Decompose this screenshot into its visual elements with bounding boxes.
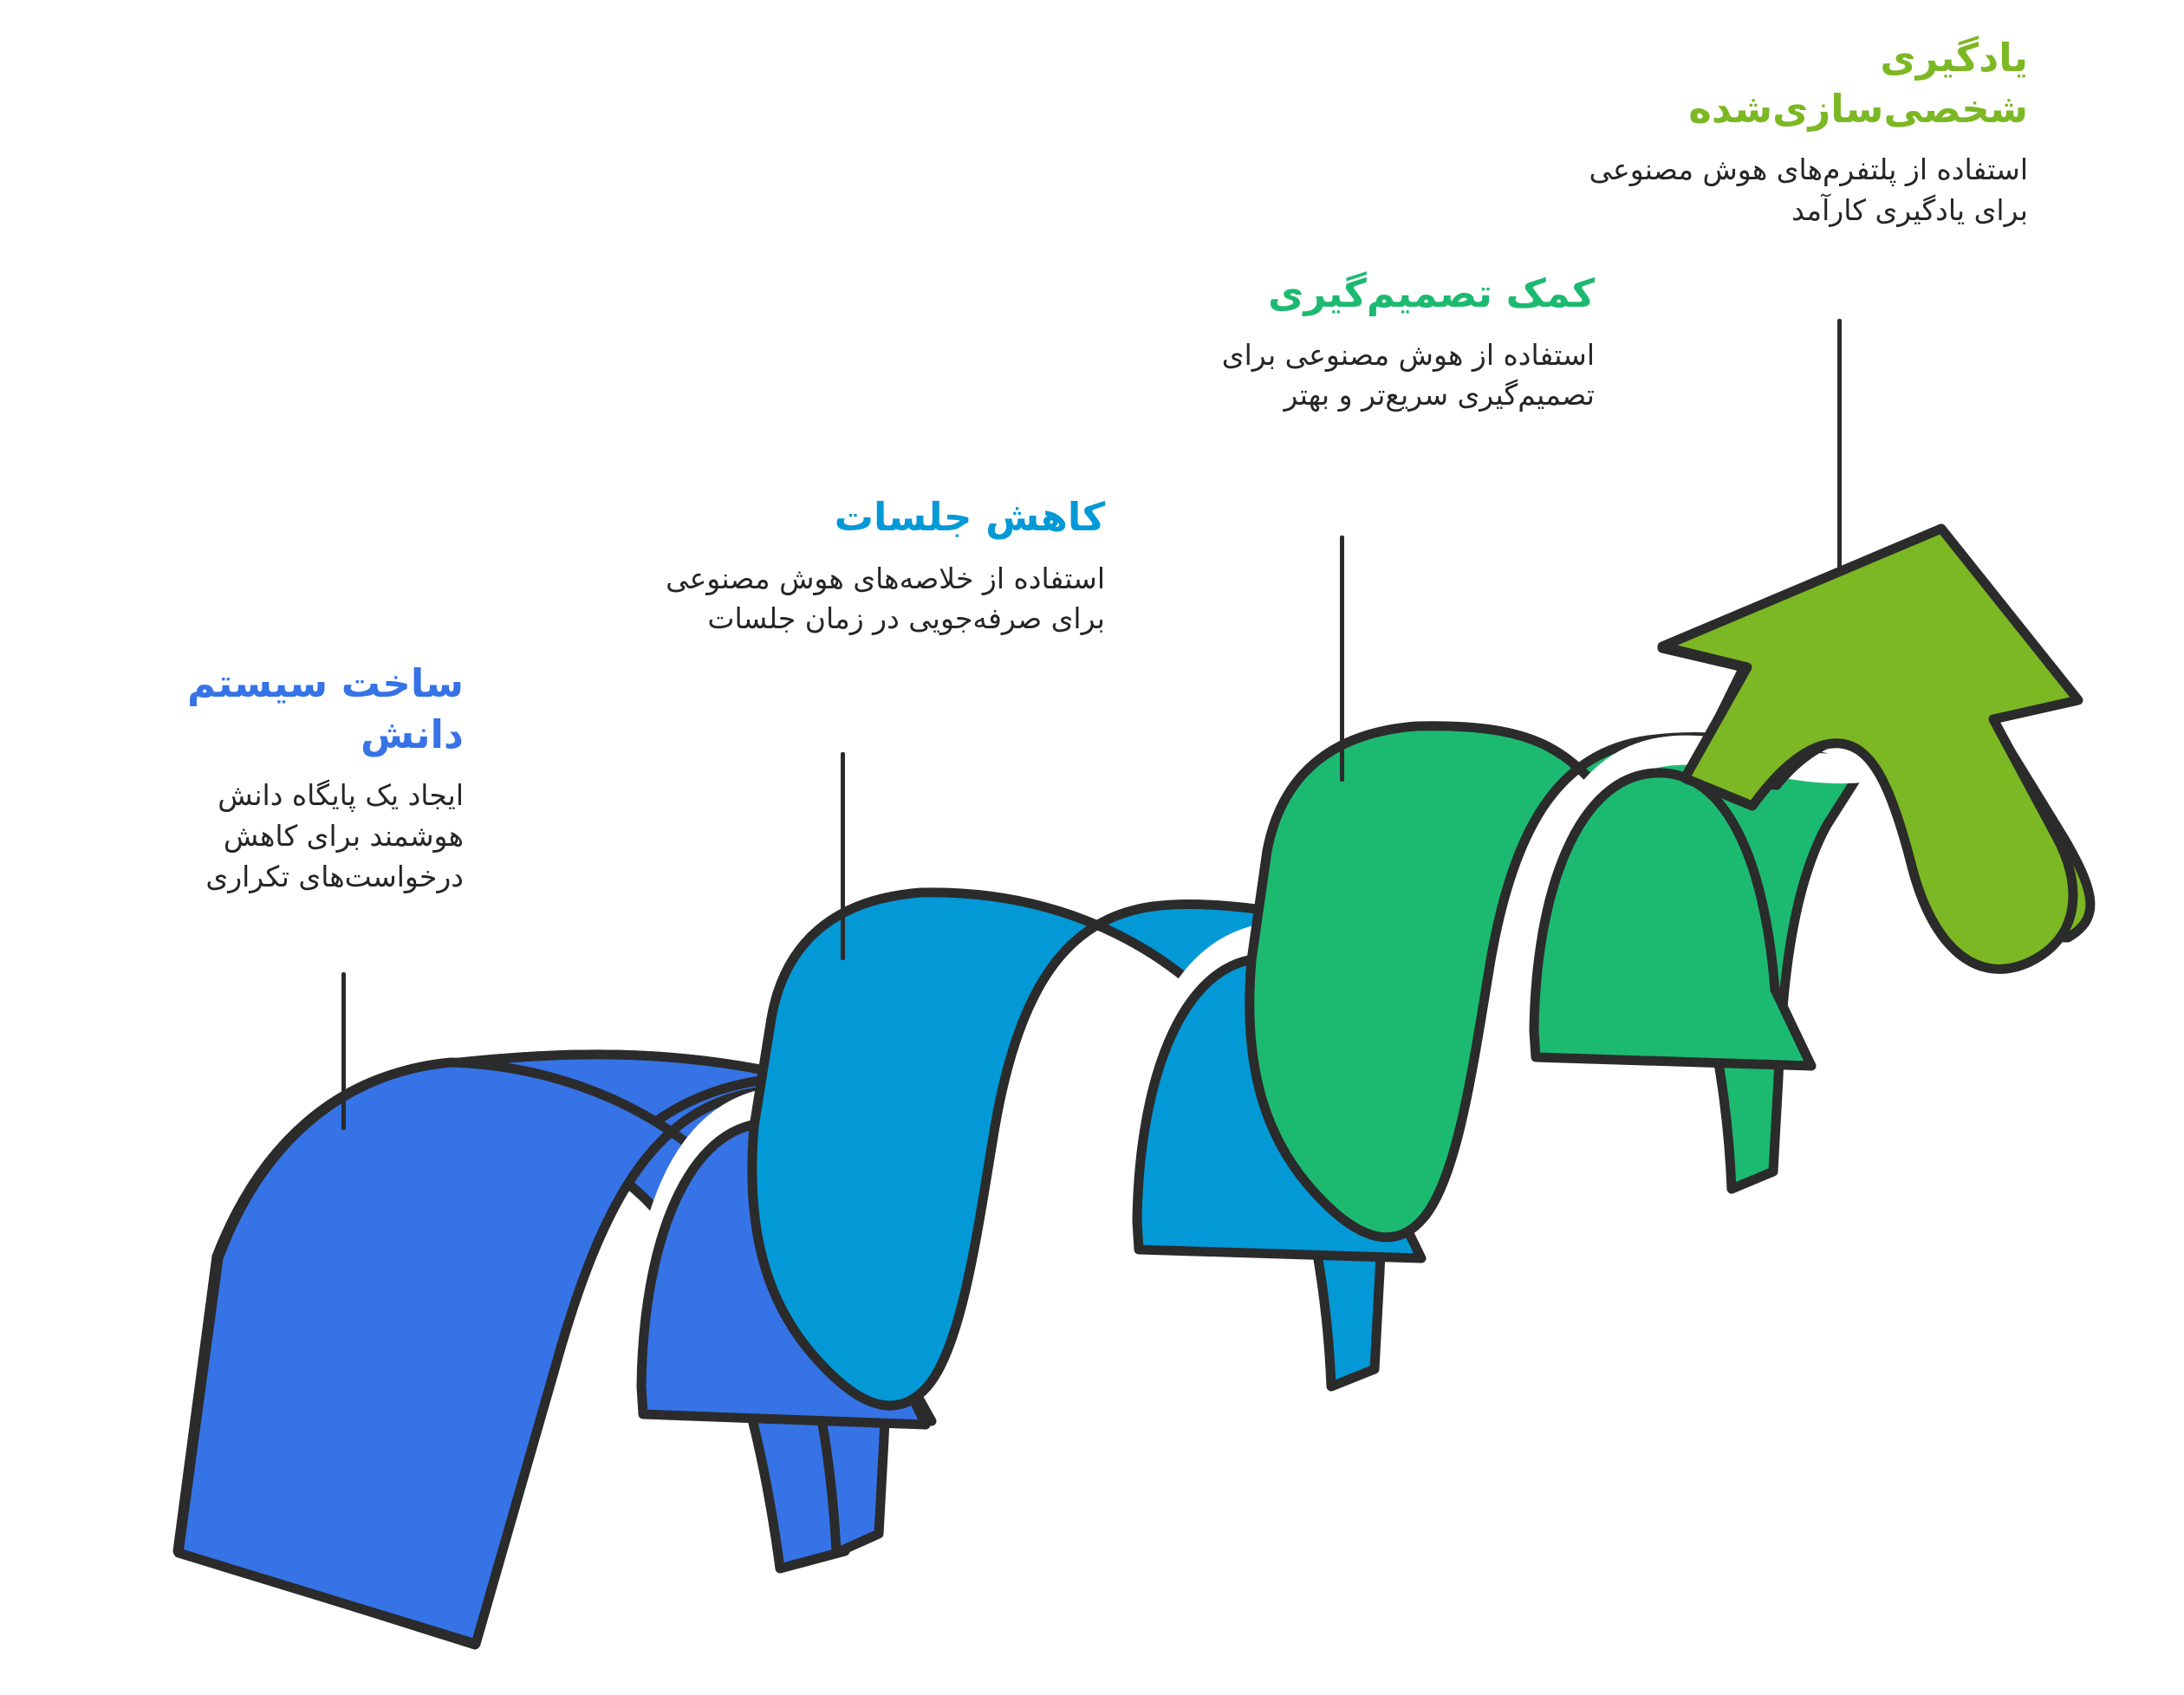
connector-line-step-2 <box>841 752 845 960</box>
step-description-1: ایجاد یک پایگاه دانش هوشمند برای کاهش در… <box>126 776 464 898</box>
step-block-2: کاهش جلسات استفاده از خلاصه‌های هوش مصنو… <box>654 492 1105 640</box>
connector-line-step-4 <box>1837 319 1842 568</box>
step-title-2: کاهش جلسات <box>654 492 1105 543</box>
step-title-3: کمک تصمیم‌گیری <box>1179 269 1595 320</box>
connector-line-step-3 <box>1340 536 1344 782</box>
step-block-4: یادگیری شخصی‌سازی‌شده استفاده از پلتفرم‌… <box>1569 33 2028 231</box>
step-title-4: یادگیری شخصی‌سازی‌شده <box>1569 33 2028 134</box>
infographic-canvas: ساخت سیستم دانش ایجاد یک پایگاه دانش هوش… <box>0 0 2184 1695</box>
step-block-1: ساخت سیستم دانش ایجاد یک پایگاه دانش هوش… <box>126 659 464 898</box>
step-title-1: ساخت سیستم دانش <box>126 659 464 760</box>
green-ribbon-segment <box>1250 726 1863 1237</box>
step-description-4: استفاده از پلتفرم‌های هوش مصنوعی برای یا… <box>1569 150 2028 231</box>
connector-line-step-1 <box>341 972 346 1130</box>
step-description-3: استفاده از هوش مصنوعی برای تصمیم‌گیری سر… <box>1179 335 1595 417</box>
step-description-2: استفاده از خلاصه‌های هوش مصنوعی برای صرف… <box>654 559 1105 640</box>
step-block-3: کمک تصمیم‌گیری استفاده از هوش مصنوعی برا… <box>1179 269 1595 416</box>
